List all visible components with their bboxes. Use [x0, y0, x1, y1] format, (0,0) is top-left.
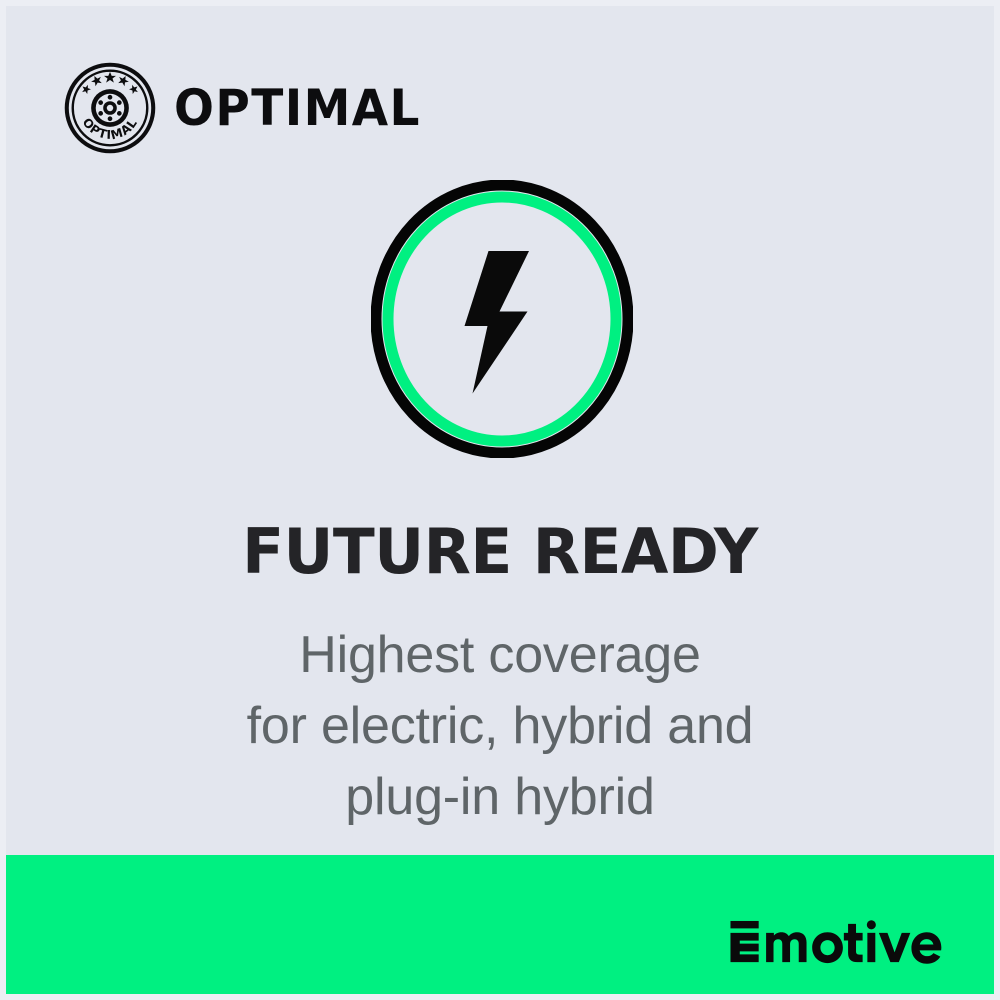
- subheadline-line-1: Highest coverage: [40, 620, 960, 691]
- subheadline-line-2: for electric, hybrid and: [40, 691, 960, 762]
- poster-canvas: OPTIMAL OPTIMAL: [0, 0, 1000, 1000]
- copy-block: FUTURE READY Highest coverage for electr…: [0, 520, 1000, 833]
- subheadline: Highest coverage for electric, hybrid an…: [40, 620, 960, 832]
- hero-icon: [371, 180, 633, 458]
- optimal-bearing-seal-icon: OPTIMAL: [64, 62, 156, 154]
- emotive-logo: [729, 918, 952, 964]
- emotive-wordmark-logo: [729, 918, 952, 964]
- lightning-bolt-in-circle-icon: [371, 180, 633, 458]
- brand-lockup: OPTIMAL OPTIMAL: [64, 62, 437, 154]
- page-title: FUTURE READY: [45, 520, 956, 584]
- subheadline-line-3: plug-in hybrid: [40, 762, 960, 833]
- brand-wordmark: OPTIMAL: [174, 83, 421, 133]
